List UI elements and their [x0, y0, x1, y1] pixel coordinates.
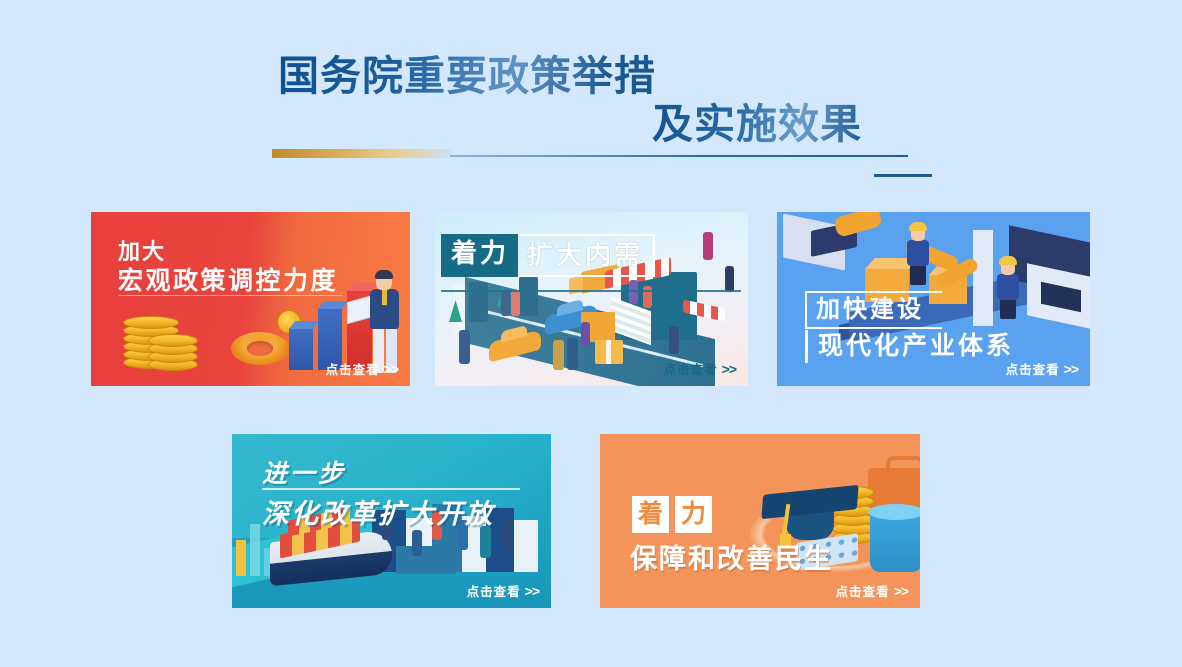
- card-deepen-reform-opening-up[interactable]: 进一步 深化改革扩大开放 点击查看>>: [232, 434, 551, 608]
- card-industry-cta-label: 点击查看: [1006, 363, 1060, 377]
- card-demand-title-badge: 着力: [441, 234, 518, 277]
- card-macro-cta[interactable]: 点击查看>>: [326, 359, 398, 378]
- person-figure: [459, 330, 470, 364]
- title-divider: [272, 149, 932, 159]
- card-reform-title-line-1: 进一步: [262, 454, 346, 490]
- chevron-right-icon: >>: [1064, 361, 1078, 377]
- title-blue-line: [450, 155, 908, 157]
- jar-lid-shape: [868, 504, 920, 520]
- page-title-line-2: 及实施效果: [652, 100, 862, 148]
- chevron-right-icon: >>: [384, 361, 398, 377]
- card-demand-title: 着力 扩大内需: [441, 234, 655, 277]
- medicine-jar-icon: [870, 512, 920, 572]
- card-expand-domestic-demand[interactable]: 着力 扩大内需 点击查看>>: [435, 212, 748, 386]
- person-figure: [629, 280, 638, 304]
- card-livelihood-cta[interactable]: 点击查看>>: [836, 581, 908, 600]
- card-livelihood-title-line-2: 保障和改善民生: [630, 537, 833, 576]
- card-demand-cta[interactable]: 点击查看>>: [664, 359, 736, 378]
- gift-box-icon: [595, 340, 623, 364]
- card-improve-peoples-livelihood[interactable]: 着 力 保障和改善民生 点击查看>>: [600, 434, 920, 608]
- person-figure: [553, 340, 564, 370]
- person-figure: [581, 322, 590, 346]
- page-title-line-1: 国务院重要政策举措: [278, 52, 656, 100]
- robot-arm-icon: [833, 212, 883, 238]
- card-livelihood-badge-1: 着: [632, 496, 669, 533]
- card-livelihood-title-badges: 着 力: [632, 496, 712, 533]
- chevron-right-icon: >>: [722, 361, 736, 377]
- person-figure: [669, 326, 679, 354]
- card-demand-title-outline: 扩大内需: [518, 234, 655, 277]
- gold-ring-icon: [231, 332, 289, 365]
- title-end-dash: [874, 174, 932, 177]
- title-gold-bar: [272, 149, 452, 158]
- card-macro-title-line-2: 宏观政策调控力度: [118, 261, 338, 297]
- card-macro-policy[interactable]: 加大 宏观政策调控力度 点击查看>>: [91, 212, 410, 386]
- card-modern-industrial-system[interactable]: 加快建设 现代化产业体系 点击查看>>: [777, 212, 1090, 386]
- coin-stack-small-icon: [148, 327, 198, 371]
- card-demand-underline: [441, 290, 741, 292]
- card-demand-cta-label: 点击查看: [664, 363, 718, 377]
- person-figure: [703, 232, 713, 260]
- card-reform-cta-label: 点击查看: [467, 585, 521, 599]
- card-industry-cta[interactable]: 点击查看>>: [1006, 359, 1078, 378]
- card-livelihood-cta-label: 点击查看: [836, 585, 890, 599]
- person-figure: [502, 522, 512, 552]
- card-macro-underline: [118, 295, 343, 296]
- person-figure: [412, 530, 422, 556]
- card-industry-title-line-1: 加快建设: [816, 296, 924, 323]
- card-macro-cta-label: 点击查看: [326, 363, 380, 377]
- policy-landing-page: 国务院重要政策举措 及实施效果: [0, 0, 1182, 667]
- card-industry-title-line-2: 现代化产业体系: [818, 332, 1014, 361]
- person-figure: [501, 290, 510, 316]
- card-industry-title-box-1: 加快建设: [805, 291, 942, 329]
- worker-figure-icon: [995, 260, 1021, 318]
- card-livelihood-badge-2: 力: [675, 496, 712, 533]
- person-figure: [511, 290, 520, 316]
- card-reform-title-line-2: 深化改革扩大开放: [262, 492, 494, 531]
- graduation-cap-icon: [762, 490, 858, 526]
- chevron-right-icon: >>: [894, 583, 908, 599]
- person-figure: [725, 266, 734, 292]
- chevron-right-icon: >>: [525, 583, 539, 599]
- support-pillar-shape: [973, 230, 993, 326]
- charging-kiosk-icon: [519, 276, 538, 316]
- card-reform-underline: [262, 488, 520, 490]
- worker-figure-icon: [905, 226, 931, 284]
- card-industry-title-box-2: 现代化产业体系: [805, 330, 1014, 363]
- charging-kiosk-icon: [469, 282, 488, 322]
- card-reform-cta[interactable]: 点击查看>>: [467, 581, 539, 600]
- person-figure: [567, 338, 578, 370]
- page-title-block: 国务院重要政策举措 及实施效果: [0, 52, 1182, 162]
